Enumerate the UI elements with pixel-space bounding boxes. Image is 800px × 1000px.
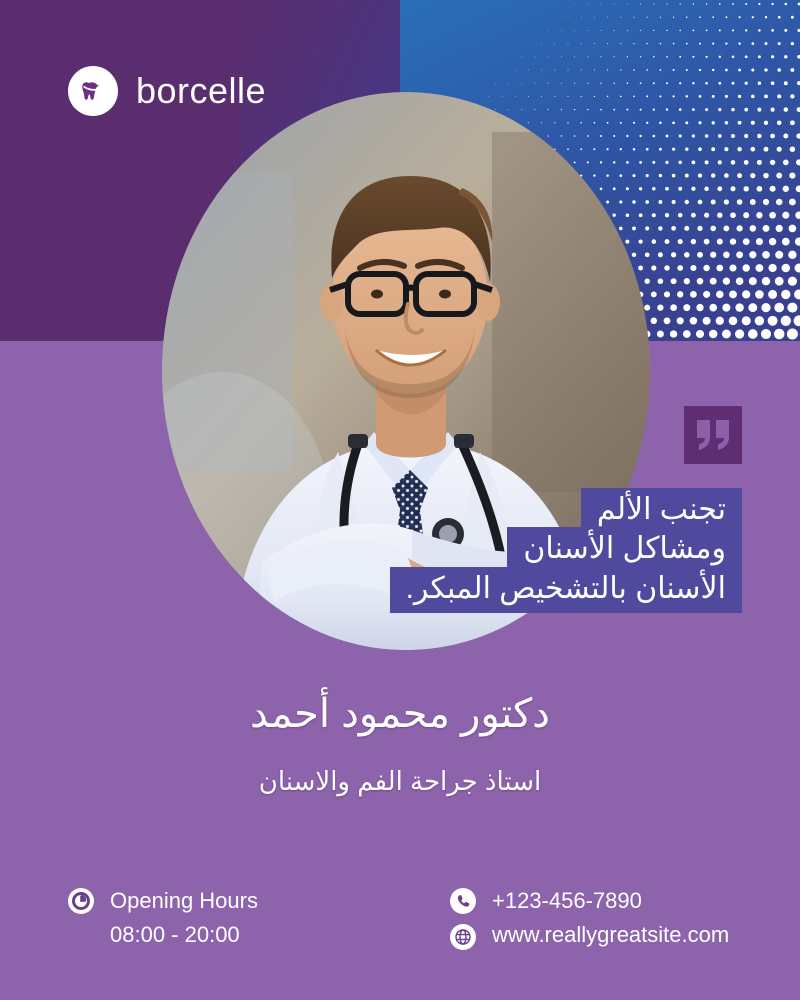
phone-icon xyxy=(450,888,476,914)
contact-text: +123-456-7890 www.reallygreatsite.com xyxy=(492,886,729,949)
opening-hours-value: 08:00 - 20:00 xyxy=(110,920,258,950)
contact-group: +123-456-7890 www.reallygreatsite.com xyxy=(450,886,729,950)
opening-hours-label: Opening Hours xyxy=(110,886,258,916)
quote-icon xyxy=(695,420,731,450)
doctor-name: دكتور محمود أحمد xyxy=(0,690,800,738)
brand-mark-circle xyxy=(68,66,118,116)
phone-number[interactable]: +123-456-7890 xyxy=(492,886,729,916)
footer-contact-bar: Opening Hours 08:00 - 20:00 xyxy=(0,880,800,960)
quote-line-3: الأسنان بالتشخيص المبكر. xyxy=(390,567,742,613)
brand-name: borcelle xyxy=(136,70,266,112)
opening-hours-group: Opening Hours 08:00 - 20:00 xyxy=(68,886,258,949)
clock-icon xyxy=(68,888,94,914)
doctor-block: دكتور محمود أحمد استاذ جراحة الفم والاسن… xyxy=(0,690,800,797)
quote-mark-block xyxy=(684,406,742,464)
tooth-sparkle-icon xyxy=(78,76,108,106)
contact-icon-stack xyxy=(450,886,476,950)
brand-logo[interactable]: borcelle xyxy=(68,66,266,116)
opening-hours-text: Opening Hours 08:00 - 20:00 xyxy=(110,886,258,949)
website-url[interactable]: www.reallygreatsite.com xyxy=(492,920,729,950)
globe-icon xyxy=(450,924,476,950)
poster-canvas: borcelle xyxy=(0,0,800,1000)
doctor-title: استاذ جراحة الفم والاسنان xyxy=(0,766,800,797)
